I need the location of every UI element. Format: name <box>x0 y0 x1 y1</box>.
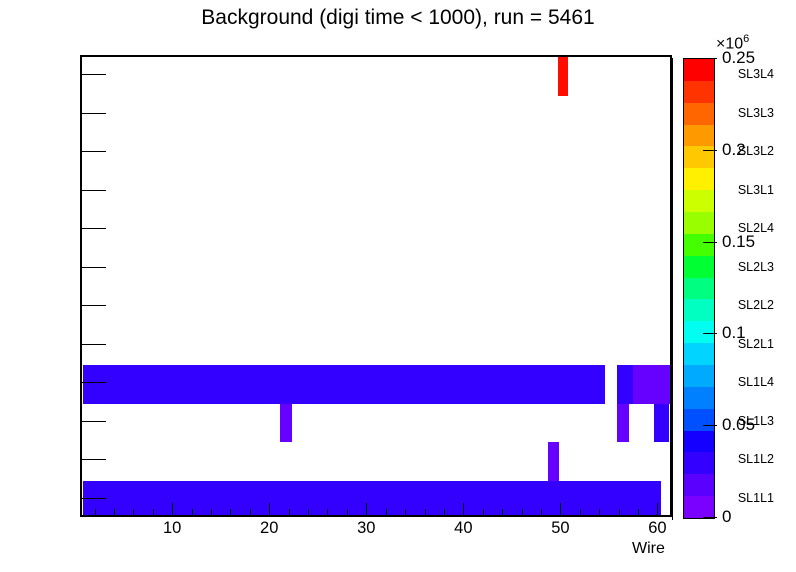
x-axis-minor-tick <box>95 509 96 517</box>
color-bar-multiplier-exp: 6 <box>743 33 749 45</box>
x-axis-minor-tick <box>192 509 193 517</box>
plot-area[interactable] <box>80 55 672 517</box>
x-axis-major-tick <box>366 503 367 517</box>
color-bar-segment <box>684 474 714 496</box>
y-axis-tick <box>82 151 106 152</box>
x-axis-tick-label: 60 <box>648 519 666 538</box>
color-bar-segment <box>684 321 714 343</box>
x-axis-tick-label: 30 <box>357 519 375 538</box>
y-axis-label-sl1l1: SL1L1 <box>738 491 774 505</box>
x-axis-minor-tick <box>327 509 328 517</box>
x-axis-minor-tick <box>405 509 406 517</box>
y-axis-label-sl3l3: SL3L3 <box>738 106 774 120</box>
color-bar-segment <box>684 124 714 146</box>
color-bar-segment <box>684 343 714 365</box>
color-bar-segment <box>684 299 714 321</box>
x-axis-minor-tick <box>133 509 134 517</box>
y-axis-tick <box>82 74 106 75</box>
x-axis-minor-tick <box>289 509 290 517</box>
y-axis-tick <box>82 421 106 422</box>
x-axis-major-tick <box>463 503 464 517</box>
x-axis-major-tick <box>560 503 561 517</box>
x-axis-minor-tick <box>619 509 620 517</box>
color-bar-segment <box>684 408 714 430</box>
heatmap-cell <box>654 404 670 443</box>
y-axis-tick <box>82 382 106 383</box>
color-bar-tick-label: 0.2 <box>722 140 746 160</box>
y-axis-label-sl3l1: SL3L1 <box>738 183 774 197</box>
plot-right-edge <box>672 58 673 520</box>
color-bar-tick <box>703 150 717 151</box>
color-bar-tick-label: 0 <box>722 507 731 527</box>
x-axis-major-tick <box>172 503 173 517</box>
y-axis-label-sl1l2: SL1L2 <box>738 452 774 466</box>
color-bar-segment <box>684 168 714 190</box>
color-bar-tick-label: 0.15 <box>722 232 755 252</box>
heatmap-cell <box>558 57 569 96</box>
heatmap-cell <box>83 365 605 404</box>
x-axis-minor-tick <box>599 509 600 517</box>
x-axis-minor-tick <box>522 509 523 517</box>
heatmap-cell <box>633 365 672 404</box>
x-axis-minor-tick <box>230 509 231 517</box>
color-bar-segment <box>684 80 714 102</box>
color-bar-segment <box>684 496 714 518</box>
color-bar-tick <box>703 425 717 426</box>
x-axis-minor-tick <box>444 509 445 517</box>
y-axis-label-sl3l4: SL3L4 <box>738 67 774 81</box>
color-bar-segment <box>684 102 714 124</box>
heatmap-cell <box>280 404 292 443</box>
page-title: Background (digi time < 1000), run = 546… <box>0 6 796 30</box>
y-axis-tick <box>82 305 106 306</box>
color-bar-segment <box>684 211 714 233</box>
root-canvas: Background (digi time < 1000), run = 546… <box>0 0 796 572</box>
x-axis-tick-label: 10 <box>163 519 181 538</box>
color-bar-tick-label: 0.1 <box>722 323 746 343</box>
x-axis-minor-tick <box>114 509 115 517</box>
x-axis-tick-label: 50 <box>551 519 569 538</box>
y-axis-label-sl1l4: SL1L4 <box>738 375 774 389</box>
color-bar-multiplier-base: ×10 <box>716 35 743 52</box>
heatmap-cell <box>548 442 559 481</box>
x-axis-minor-tick <box>425 509 426 517</box>
x-axis-tick-label: 20 <box>260 519 278 538</box>
color-bar-segment <box>684 364 714 386</box>
color-bar-segment <box>684 277 714 299</box>
x-axis-minor-tick <box>250 509 251 517</box>
color-bar-segment <box>684 255 714 277</box>
x-axis-minor-tick <box>308 509 309 517</box>
heatmap-cell <box>83 481 661 518</box>
x-axis-minor-tick <box>502 509 503 517</box>
x-axis-major-tick <box>269 503 270 517</box>
color-bar-segment <box>684 58 714 80</box>
y-axis-label-sl2l3: SL2L3 <box>738 260 774 274</box>
heatmap-cell <box>617 365 633 404</box>
x-axis-minor-tick <box>347 509 348 517</box>
color-bar-tick-label: 0.05 <box>722 415 755 435</box>
x-axis-minor-tick <box>153 509 154 517</box>
x-axis-title: Wire <box>632 540 665 558</box>
color-bar-segment <box>684 386 714 408</box>
color-bar-tick <box>703 333 717 334</box>
x-axis-minor-tick <box>638 509 639 517</box>
y-axis-tick <box>82 498 106 499</box>
x-axis-minor-tick <box>580 509 581 517</box>
color-bar[interactable] <box>683 58 715 519</box>
color-bar-tick <box>703 58 717 59</box>
y-axis-label-sl2l2: SL2L2 <box>738 298 774 312</box>
y-axis-tick <box>82 228 106 229</box>
x-axis-minor-tick <box>483 509 484 517</box>
color-bar-tick <box>703 517 717 518</box>
x-axis-major-tick <box>657 503 658 517</box>
color-bar-segment <box>684 190 714 212</box>
y-axis-tick <box>82 113 106 114</box>
color-bar-tick <box>703 242 717 243</box>
x-axis-minor-tick <box>541 509 542 517</box>
y-axis-tick <box>82 190 106 191</box>
x-axis-minor-tick <box>211 509 212 517</box>
color-bar-segment <box>684 452 714 474</box>
color-bar-segment <box>684 430 714 452</box>
x-axis-tick-label: 40 <box>454 519 472 538</box>
color-bar-segment <box>684 233 714 255</box>
y-axis-tick <box>82 344 106 345</box>
y-axis-tick <box>82 267 106 268</box>
y-axis-tick <box>82 459 106 460</box>
color-bar-multiplier: ×106 <box>716 33 749 53</box>
heatmap-cell <box>617 404 630 443</box>
x-axis-minor-tick <box>386 509 387 517</box>
